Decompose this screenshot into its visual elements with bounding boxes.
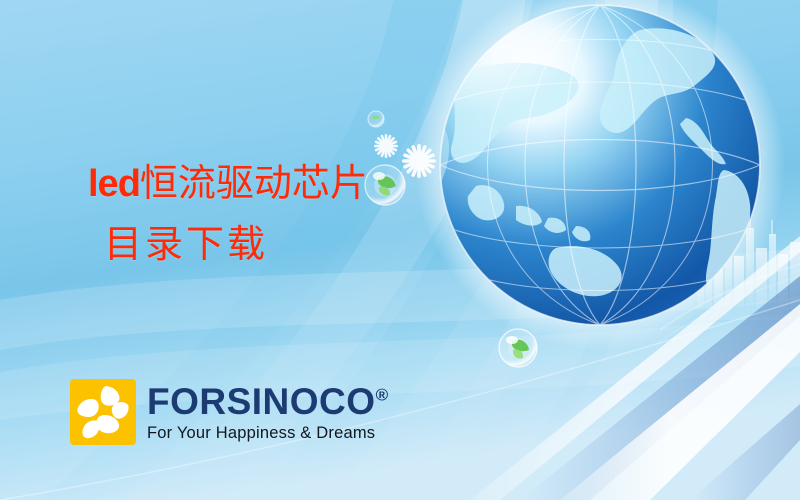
headline-line-1: led恒流驱动芯片 xyxy=(88,160,518,207)
brand-logo: FORSINOCO® For Your Happiness & Dreams xyxy=(70,379,388,445)
headline-cjk: 恒流驱动芯片 xyxy=(140,161,368,205)
registered-trademark-icon: ® xyxy=(376,385,389,404)
page-title: led恒流驱动芯片 目录下载 xyxy=(88,160,518,268)
headline-line-2: 目录下载 xyxy=(104,221,518,267)
logo-text-block: FORSINOCO® For Your Happiness & Dreams xyxy=(147,383,388,442)
headline-latin: led xyxy=(88,163,140,205)
bubble-globe-top xyxy=(368,111,384,127)
wordmark: FORSINOCO® xyxy=(147,383,388,420)
bubble-globe-low xyxy=(499,329,537,367)
wordmark-text: FORSINOCO xyxy=(147,381,376,422)
banner-image: led恒流驱动芯片 目录下载 FORSINOCO® For Your Happi… xyxy=(0,0,800,500)
tagline: For Your Happiness & Dreams xyxy=(147,425,388,442)
four-petal-flower-logo-icon xyxy=(70,379,136,445)
starburst-small xyxy=(374,134,398,158)
